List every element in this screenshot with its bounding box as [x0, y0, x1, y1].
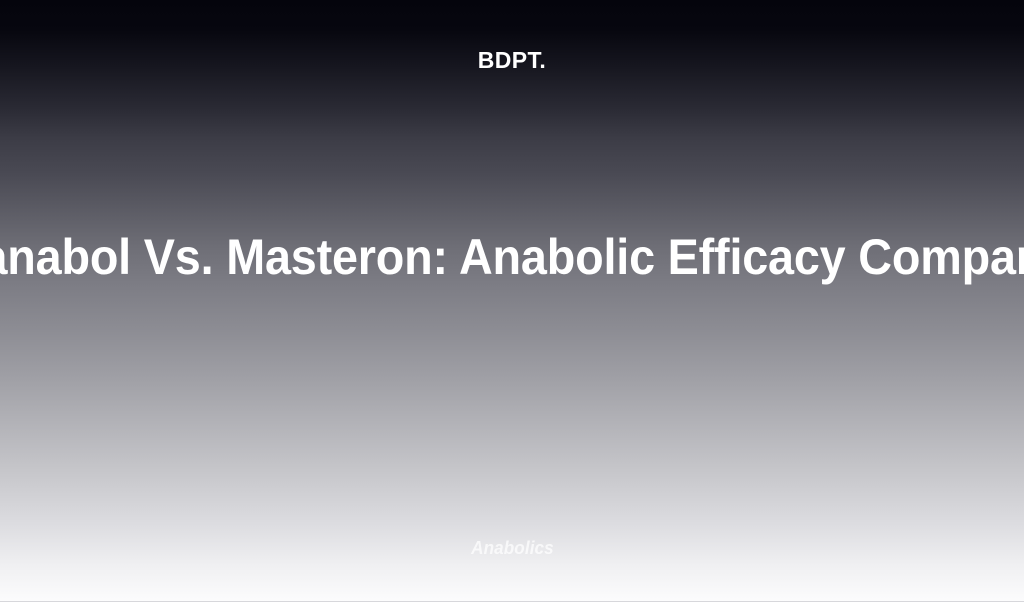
- article-hero-banner: BDPT. Dianabol Vs. Masteron: Anabolic Ef…: [0, 0, 1024, 602]
- category-label[interactable]: Anabolics: [471, 536, 554, 561]
- brand-logo[interactable]: BDPT.: [0, 0, 1024, 120]
- page-title: Dianabol Vs. Masteron: Anabolic Efficacy…: [0, 228, 1024, 286]
- hero-category-container: Anabolics: [0, 536, 1024, 561]
- hero-title-container: Dianabol Vs. Masteron: Anabolic Efficacy…: [0, 228, 1024, 286]
